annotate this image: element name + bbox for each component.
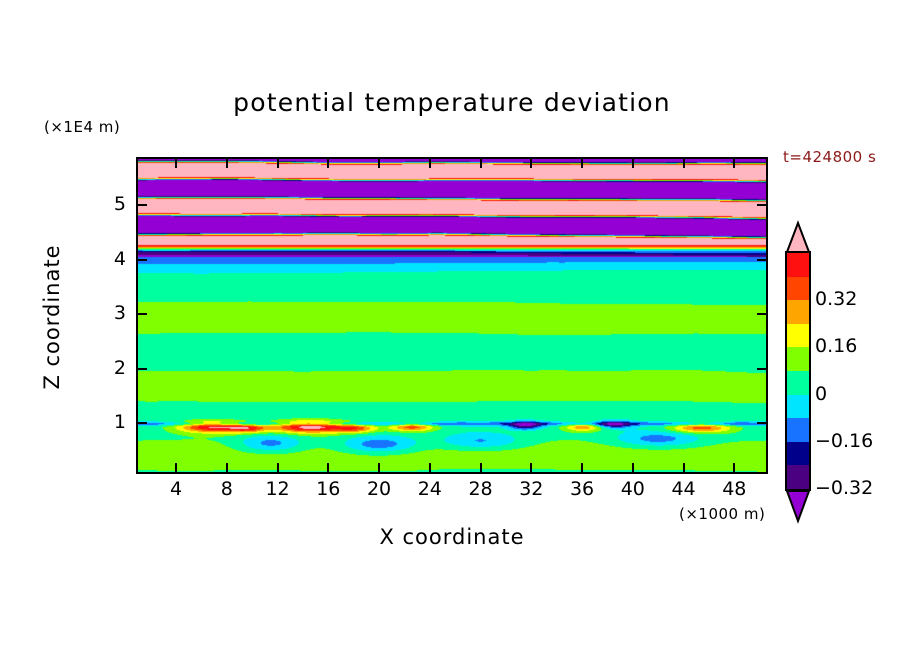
x-axis-title: X coordinate	[136, 525, 768, 549]
x-axis-tick	[277, 159, 279, 168]
y-axis-tick	[138, 422, 147, 424]
x-axis-tick	[632, 159, 634, 168]
x-axis-tick	[530, 159, 532, 168]
x-tick-label: 28	[459, 478, 503, 500]
colorbar-band	[787, 395, 809, 419]
x-axis-tick	[683, 463, 685, 472]
y-axis-tick	[138, 204, 147, 206]
x-axis-tick	[733, 159, 735, 168]
x-axis-tick	[429, 463, 431, 472]
x-axis-tick	[378, 159, 380, 168]
y-axis-tick	[757, 422, 766, 424]
x-tick-label: 16	[306, 478, 350, 500]
x-axis-tick	[429, 159, 431, 168]
x-axis-tick	[581, 159, 583, 168]
figure-canvas: potential temperature deviation (×1E4 m)…	[0, 0, 904, 654]
x-tick-label: 12	[256, 478, 300, 500]
y-tick-label: 2	[96, 357, 126, 379]
x-axis-tick	[277, 463, 279, 472]
colorbar-band	[787, 371, 809, 395]
timestamp-annotation: t=424800 s	[783, 148, 876, 166]
colorbar-band	[787, 418, 809, 442]
colorbar-band	[787, 465, 809, 489]
x-tick-label: 24	[408, 478, 452, 500]
x-axis-tick	[226, 159, 228, 168]
x-axis-tick	[581, 463, 583, 472]
x-tick-label: 4	[154, 478, 198, 500]
x-axis-tick	[480, 463, 482, 472]
x-axis-tick	[327, 463, 329, 472]
x-axis-tick	[683, 159, 685, 168]
y-axis-tick	[138, 368, 147, 370]
colorbar-label: 0.32	[815, 288, 857, 310]
y-tick-label: 4	[96, 248, 126, 270]
x-axis-tick	[632, 463, 634, 472]
colorbar-bands	[785, 251, 811, 491]
colorbar-label: −0.16	[815, 430, 873, 452]
contour-plot-area[interactable]	[136, 157, 768, 474]
x-tick-label: 40	[611, 478, 655, 500]
colorbar-band	[787, 277, 809, 301]
page-title: potential temperature deviation	[0, 88, 904, 117]
x-tick-label: 8	[205, 478, 249, 500]
y-tick-label: 3	[96, 302, 126, 324]
x-tick-label: 20	[357, 478, 401, 500]
y-axis-tick	[757, 368, 766, 370]
x-tick-label: 36	[560, 478, 604, 500]
colorbar-label: 0	[815, 383, 827, 405]
y-tick-label: 1	[96, 411, 126, 433]
y-axis-units-label: (×1E4 m)	[44, 118, 120, 136]
colorbar-band	[787, 324, 809, 348]
x-axis-tick	[530, 463, 532, 472]
colorbar-label: −0.32	[815, 477, 873, 499]
y-axis-tick	[757, 313, 766, 315]
y-tick-label: 5	[96, 193, 126, 215]
colorbar-label: 0.16	[815, 335, 857, 357]
y-axis-tick	[757, 204, 766, 206]
x-axis-tick	[327, 159, 329, 168]
colorbar[interactable]: 0.320.160−0.16−0.32	[785, 222, 811, 522]
x-tick-label: 48	[712, 478, 756, 500]
x-tick-label: 32	[509, 478, 553, 500]
colorbar-under-arrow	[785, 489, 811, 522]
x-axis-tick	[733, 463, 735, 472]
y-axis-tick	[757, 259, 766, 261]
x-axis-tick	[480, 159, 482, 168]
colorbar-band	[787, 347, 809, 371]
x-axis-tick	[226, 463, 228, 472]
x-tick-label: 44	[662, 478, 706, 500]
colorbar-band	[787, 300, 809, 324]
x-axis-units-label: (×1000 m)	[679, 505, 765, 523]
x-axis-tick	[378, 463, 380, 472]
x-axis-tick	[175, 159, 177, 168]
colorbar-over-arrow	[785, 222, 811, 253]
y-axis-tick	[138, 259, 147, 261]
colorbar-band	[787, 442, 809, 466]
y-axis-tick	[138, 313, 147, 315]
colorbar-band	[787, 253, 809, 277]
y-axis-title: Z coordinate	[40, 202, 64, 432]
contour-field-canvas	[138, 159, 766, 472]
x-axis-tick	[175, 463, 177, 472]
